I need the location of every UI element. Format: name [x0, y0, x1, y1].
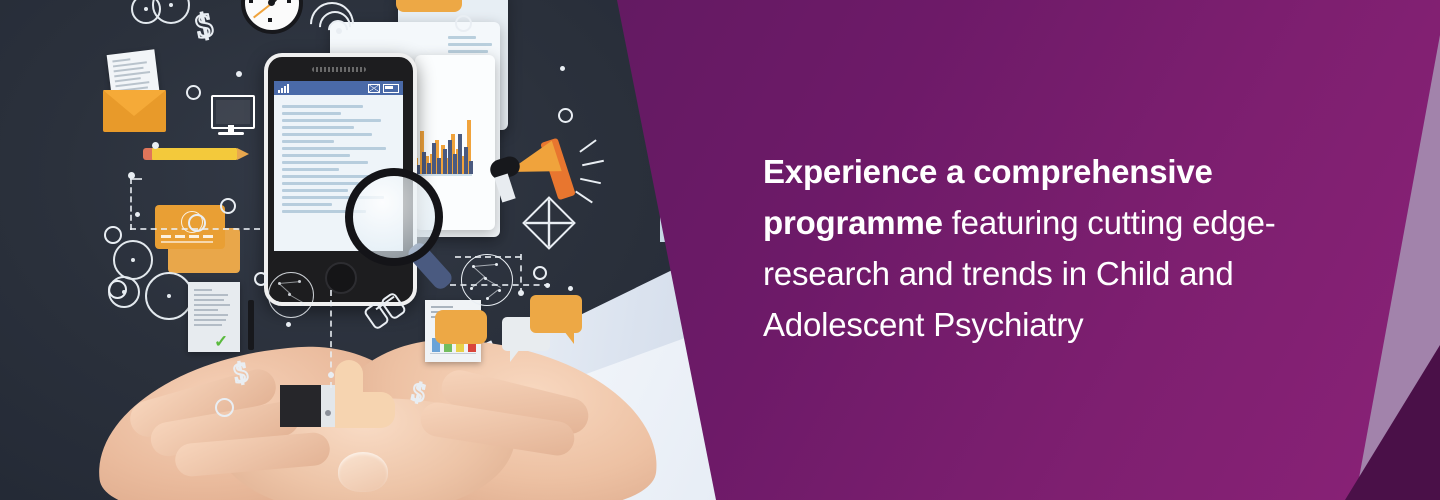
decorative-ring	[108, 280, 127, 299]
decorative-ring	[254, 272, 268, 286]
envelope-outline-icon	[522, 196, 576, 250]
thumbs-up-fist	[335, 392, 395, 428]
decorative-dot	[135, 212, 140, 217]
decorative-ring	[533, 266, 547, 280]
chart-bar	[443, 149, 447, 174]
decorative-ring	[220, 198, 236, 214]
mail-icon	[368, 84, 380, 93]
network-icon	[461, 254, 513, 306]
megaphone-sound-line	[582, 160, 604, 167]
decorative-dot	[328, 372, 334, 378]
dashed-connector	[455, 256, 521, 258]
decorative-dot	[518, 290, 524, 296]
orange-tag-top	[396, 0, 462, 12]
dashed-connector	[520, 254, 522, 294]
decorative-dot	[286, 322, 291, 327]
dollar-sign-icon: $	[192, 7, 217, 48]
magnifier-icon	[345, 168, 443, 266]
gear-icon	[113, 240, 153, 280]
megaphone-sound-line	[575, 191, 593, 204]
decorative-dot	[128, 172, 135, 179]
gear-icon	[145, 272, 193, 320]
wifi-icon	[310, 2, 358, 42]
decorative-ring	[215, 398, 234, 417]
megaphone-sound-line	[580, 178, 601, 184]
chart-bar	[469, 161, 473, 174]
decorative-ring	[188, 214, 206, 232]
thumbs-up-cuff	[280, 385, 324, 427]
envelope-flap	[103, 90, 166, 116]
clock-icon	[241, 0, 303, 34]
orange-tag-bottom	[435, 310, 487, 344]
chart-bar	[448, 140, 452, 174]
battery-icon	[383, 84, 399, 93]
checkmark-icon: ✓	[214, 332, 228, 352]
pencil-tip	[237, 148, 249, 160]
monitor-base	[218, 132, 244, 135]
decorative-ring	[455, 15, 472, 32]
decorative-dot	[560, 66, 565, 71]
promo-banner: $ $ $ ✓	[0, 0, 1440, 500]
network-icon	[268, 272, 314, 318]
chart-bar	[437, 158, 441, 174]
decorative-dot	[568, 286, 573, 291]
phone-speaker	[312, 67, 366, 72]
chart-bar	[416, 165, 420, 174]
chart-bar	[464, 147, 468, 174]
gear-icon	[152, 0, 190, 24]
dashed-connector	[130, 178, 132, 230]
monitor-icon	[211, 95, 255, 129]
decorative-dot	[236, 71, 242, 77]
thumb-nail	[338, 452, 388, 492]
chart-bar	[427, 163, 431, 174]
megaphone-sound-line	[579, 139, 596, 152]
chart-bar	[458, 134, 462, 174]
speech-bubble-orange-icon	[530, 295, 582, 333]
decorative-dot	[545, 283, 550, 288]
dashed-connector	[450, 284, 550, 286]
phone-status-bar	[274, 81, 403, 95]
page-title: Experience a comprehensive programme fea…	[763, 146, 1363, 350]
pen-icon	[248, 300, 254, 350]
chart-bar	[453, 154, 457, 174]
decorative-ring	[558, 108, 573, 123]
handset-icon	[368, 300, 402, 334]
decorative-ring	[104, 226, 122, 244]
signal-bars-icon	[278, 84, 289, 93]
chart-bar	[432, 143, 436, 174]
pencil-icon	[152, 148, 237, 160]
decorative-dot	[152, 142, 159, 149]
chart-bar	[422, 152, 426, 174]
decorative-ring	[186, 85, 201, 100]
